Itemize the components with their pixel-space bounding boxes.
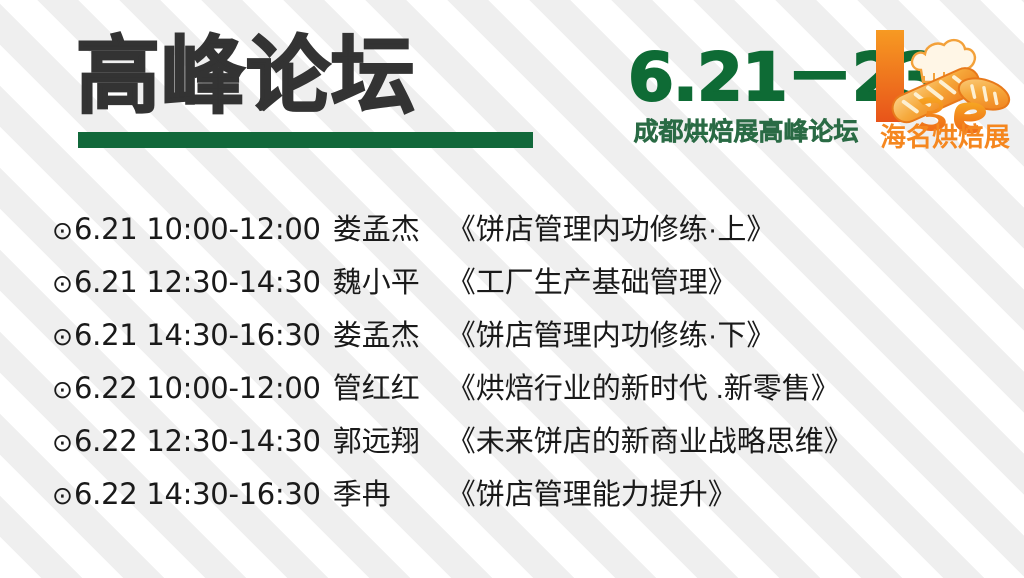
- session-speaker: 魏小平: [333, 259, 431, 301]
- session-speaker: 季冉: [333, 471, 431, 513]
- session-date: 6.21: [74, 265, 137, 299]
- session-date: 6.21: [74, 318, 137, 352]
- event-date-block: 6.21－23 成都烘焙展高峰论坛: [628, 44, 864, 146]
- circle-dot-icon: ⊙: [52, 219, 74, 244]
- logo-name-text: 海名烘焙展: [880, 122, 1010, 152]
- session-date: 6.22: [74, 424, 137, 458]
- list-item[interactable]: ⊙ 6.21 12:30-14:30 魏小平 《工厂生产基础管理》: [0, 259, 1024, 312]
- session-topic: 《工厂生产基础管理》: [447, 259, 737, 301]
- list-item[interactable]: ⊙ 6.21 10:00-12:00 娄孟杰 《饼店管理内功修练·上》: [0, 206, 1024, 259]
- session-time: 10:00-12:00: [146, 212, 320, 246]
- circle-dot-icon: ⊙: [52, 378, 74, 403]
- page-title: 高峰论坛: [76, 28, 416, 124]
- session-date: 6.22: [74, 371, 137, 405]
- session-time: 12:30-14:30: [146, 265, 320, 299]
- session-topic: 《饼店管理内功修练·下》: [447, 312, 776, 354]
- circle-dot-icon: ⊙: [52, 431, 74, 456]
- session-time: 14:30-16:30: [146, 318, 320, 352]
- poster-canvas: 高峰论坛 6.21－23 成都烘焙展高峰论坛: [0, 0, 1024, 578]
- title-underline-rule: [78, 132, 533, 148]
- session-date: 6.21: [74, 212, 137, 246]
- exhibition-logo: 海名烘焙展: [874, 26, 1016, 152]
- session-speaker: 娄孟杰: [333, 206, 431, 248]
- session-time: 10:00-12:00: [146, 371, 320, 405]
- list-item[interactable]: ⊙ 6.22 12:30-14:30 郭远翔 《未来饼店的新商业战略思维》: [0, 418, 1024, 471]
- session-topic: 《饼店管理能力提升》: [447, 471, 737, 513]
- session-topic: 《饼店管理内功修练·上》: [447, 206, 776, 248]
- session-time: 14:30-16:30: [146, 477, 320, 511]
- poster-header: 高峰论坛 6.21－23 成都烘焙展高峰论坛: [0, 0, 1024, 178]
- event-subtitle: 成都烘焙展高峰论坛: [628, 118, 864, 146]
- list-item[interactable]: ⊙ 6.22 14:30-16:30 季冉 《饼店管理能力提升》: [0, 471, 1024, 524]
- circle-dot-icon: ⊙: [52, 484, 74, 509]
- session-topic: 《未来饼店的新商业战略思维》: [447, 418, 853, 460]
- session-speaker: 娄孟杰: [333, 312, 431, 354]
- event-dates: 6.21－23: [628, 44, 864, 112]
- session-time: 12:30-14:30: [146, 424, 320, 458]
- circle-dot-icon: ⊙: [52, 325, 74, 350]
- circle-dot-icon: ⊙: [52, 272, 74, 297]
- list-item[interactable]: ⊙ 6.21 14:30-16:30 娄孟杰 《饼店管理内功修练·下》: [0, 312, 1024, 365]
- session-schedule-list: ⊙ 6.21 10:00-12:00 娄孟杰 《饼店管理内功修练·上》 ⊙ 6.…: [0, 206, 1024, 524]
- list-item[interactable]: ⊙ 6.22 10:00-12:00 管红红 《烘焙行业的新时代 .新零售》: [0, 365, 1024, 418]
- session-topic: 《烘焙行业的新时代 .新零售》: [447, 365, 840, 407]
- session-speaker: 郭远翔: [333, 418, 431, 460]
- session-date: 6.22: [74, 477, 137, 511]
- session-speaker: 管红红: [333, 365, 431, 407]
